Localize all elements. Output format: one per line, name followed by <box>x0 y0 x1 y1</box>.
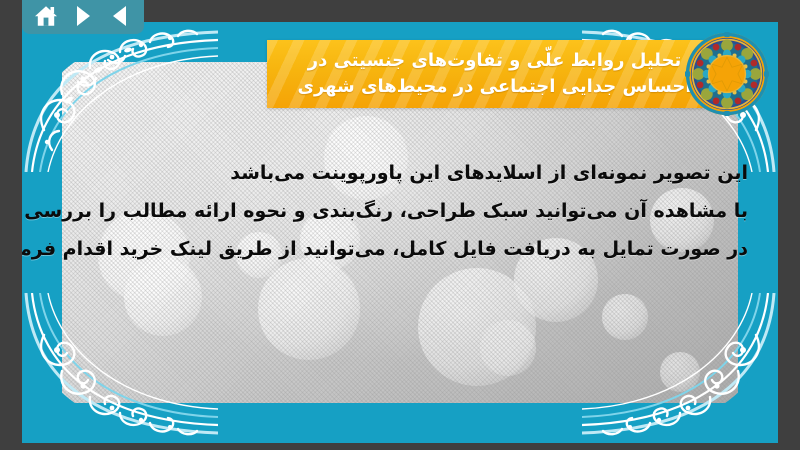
slide-navigation-bar <box>22 0 144 34</box>
triangle-left-icon <box>113 6 126 26</box>
triangle-right-icon <box>77 6 90 26</box>
previous-slide-button[interactable] <box>105 2 135 30</box>
body-line-3: در صورت تمایل به دریافت فایل کامل، می‌تو… <box>22 230 748 268</box>
bokeh-circle <box>660 352 700 392</box>
bokeh-circle <box>480 320 536 376</box>
slide-title-line-2: احساس جدایی اجتماعی در محیط‌های شهری <box>297 74 691 100</box>
slide-title-line-1: تحلیل روابط علّی و تفاوت‌های جنسیتی در <box>308 48 682 74</box>
home-icon <box>33 4 59 28</box>
presentation-slide: تحلیل روابط علّی و تفاوت‌های جنسیتی در ا… <box>22 22 778 443</box>
next-slide-button[interactable] <box>68 2 98 30</box>
bokeh-circle <box>258 258 360 360</box>
bokeh-circle <box>602 294 648 340</box>
slide-title-banner: تحلیل روابط علّی و تفاوت‌های جنسیتی در ا… <box>267 40 722 108</box>
body-line-1: این تصویر نمونه‌ای از اسلایدهای این پاور… <box>22 154 748 192</box>
bokeh-circle <box>124 258 202 336</box>
persian-medallion-ornament <box>685 32 769 116</box>
body-line-2: با مشاهده آن می‌توانید سبک طراحی، رنگ‌بن… <box>22 192 748 230</box>
slide-body-text: این تصویر نمونه‌ای از اسلایدهای این پاور… <box>22 154 748 268</box>
slide-viewer: تحلیل روابط علّی و تفاوت‌های جنسیتی در ا… <box>0 0 800 450</box>
home-button[interactable] <box>31 2 61 30</box>
